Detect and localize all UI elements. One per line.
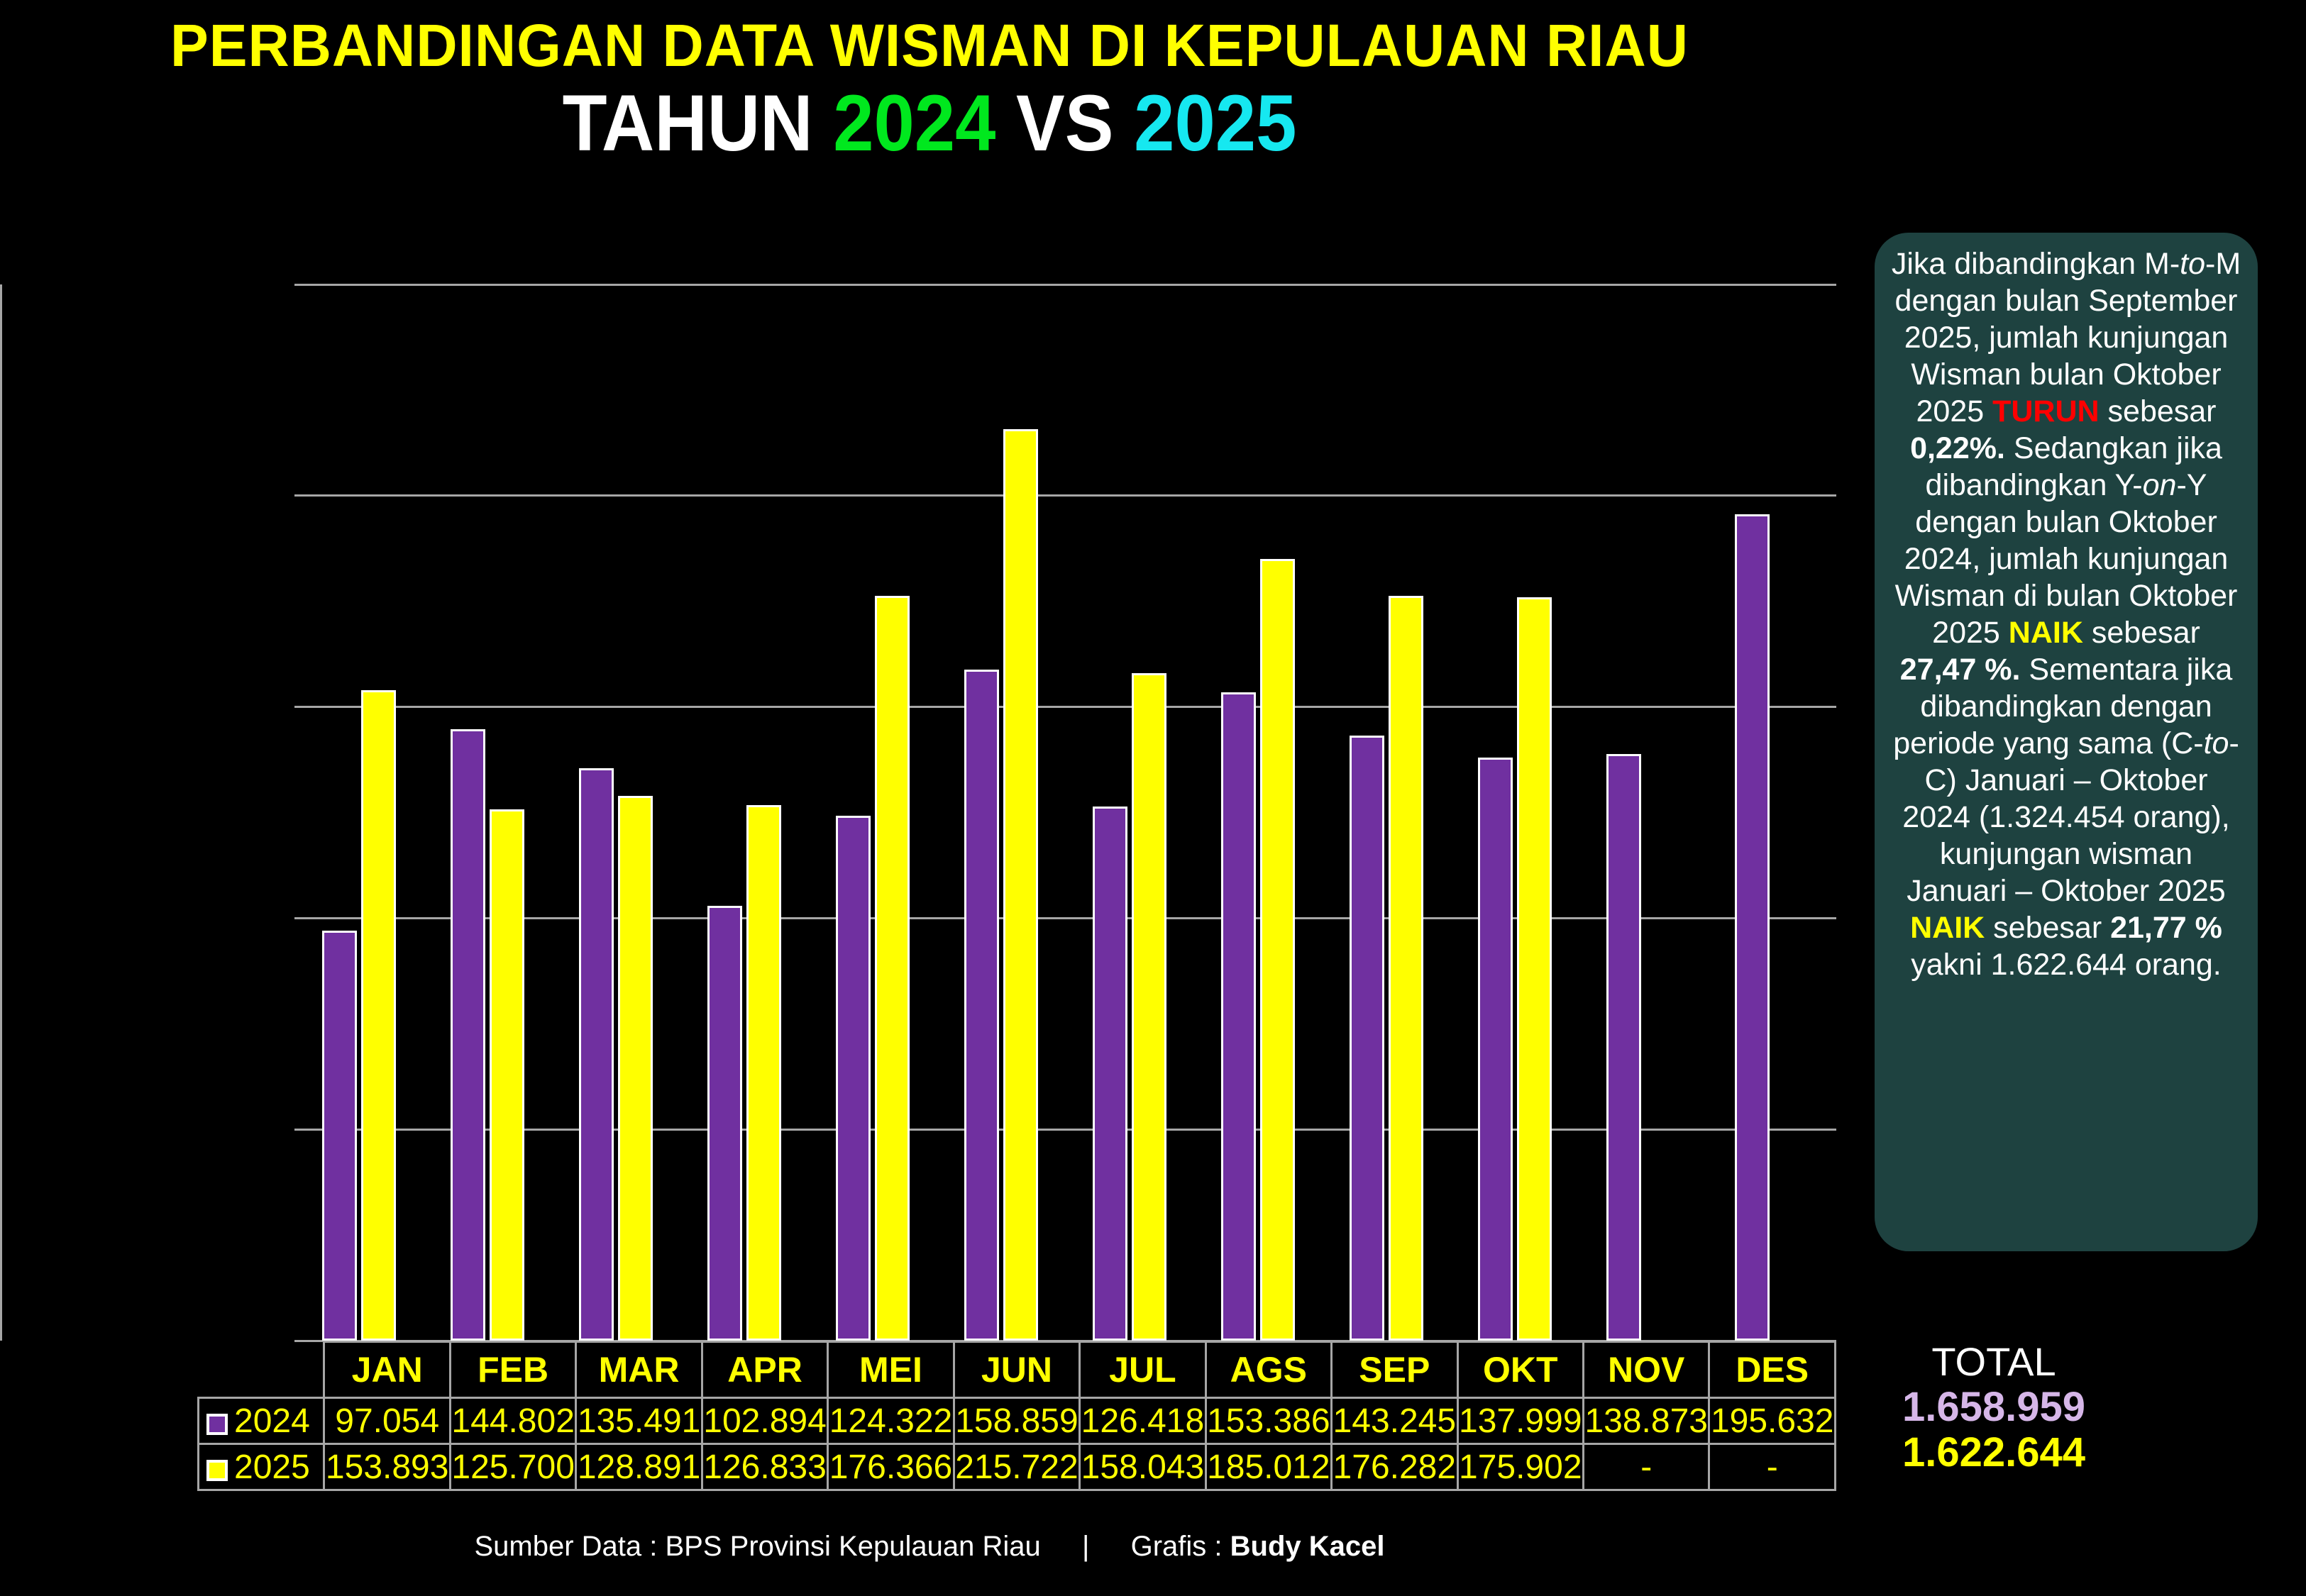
bar-group xyxy=(1066,284,1194,1341)
table-cell-2025-SEP: 176.282 xyxy=(1332,1444,1457,1490)
legend-label-2024: 2024 xyxy=(234,1402,310,1440)
legend-swatch-2024 xyxy=(206,1414,228,1435)
bar-group xyxy=(1708,284,1836,1341)
table-col-header-FEB: FEB xyxy=(450,1342,575,1398)
table-col-header-MEI: MEI xyxy=(828,1342,954,1398)
table-cell-2024-JUL: 126.418 xyxy=(1080,1398,1206,1444)
table-cell-2025-JUN: 215.722 xyxy=(954,1444,1079,1490)
bar-group xyxy=(551,284,680,1341)
bar-2024-JUN xyxy=(964,670,999,1341)
bar-2024-AGS xyxy=(1221,692,1256,1341)
table-cell-2025-NOV: - xyxy=(1583,1444,1709,1490)
table-col-header-SEP: SEP xyxy=(1332,1342,1457,1398)
table-cell-2025-APR: 126.833 xyxy=(702,1444,827,1490)
bar-group xyxy=(1194,284,1323,1341)
table-cell-2024-MEI: 124.322 xyxy=(828,1398,954,1444)
table-cell-2024-JUN: 158.859 xyxy=(954,1398,1079,1444)
table-cell-2024-OKT: 137.999 xyxy=(1457,1398,1583,1444)
bar-2025-MAR xyxy=(618,796,653,1341)
bar-2024-SEP xyxy=(1350,736,1384,1341)
table-col-header-AGS: AGS xyxy=(1206,1342,1331,1398)
data-table: JANFEBMARAPRMEIJUNJULAGSSEPOKTNOVDES 202… xyxy=(197,1341,1836,1491)
note-text-4: sebesar xyxy=(2083,616,2200,650)
note-badge-turun: TURUN xyxy=(1992,394,2099,428)
table-cell-2024-DES: 195.632 xyxy=(1709,1398,1836,1444)
table-col-header-OKT: OKT xyxy=(1457,1342,1583,1398)
note-text-6: sebesar xyxy=(1985,911,2110,945)
note-pct-yoy: 27,47 %. xyxy=(1900,653,2021,687)
table-col-header-MAR: MAR xyxy=(576,1342,702,1398)
bar-2024-APR xyxy=(707,906,742,1341)
bar-2024-FEB xyxy=(451,729,485,1341)
table-row-header-2025: 2025 xyxy=(199,1444,324,1490)
bar-2024-MAR xyxy=(579,768,614,1341)
table-col-header-JUN: JUN xyxy=(954,1342,1079,1398)
bar-2024-JUL xyxy=(1093,807,1127,1341)
bar-2024-NOV xyxy=(1606,754,1641,1341)
bar-2025-JUL xyxy=(1132,673,1166,1341)
table-cell-2025-MAR: 128.891 xyxy=(576,1444,702,1490)
bar-2024-JAN xyxy=(322,931,357,1341)
note-em-on: on xyxy=(2143,468,2177,502)
bar-2025-JAN xyxy=(361,690,396,1341)
table-row: 202497.054144.802135.491102.894124.32215… xyxy=(199,1398,1836,1444)
bar-group xyxy=(1451,284,1579,1341)
table-cell-2025-MEI: 176.366 xyxy=(828,1444,954,1490)
note-em-to-2: to xyxy=(2204,726,2229,760)
table-cell-2024-NOV: 138.873 xyxy=(1583,1398,1709,1444)
y-axis-line xyxy=(0,284,2,1341)
bar-2025-SEP xyxy=(1389,596,1423,1341)
note-badge-naik-2: NAIK xyxy=(1910,911,1985,945)
bar-2024-MEI xyxy=(836,816,871,1341)
bar-group xyxy=(1323,284,1451,1341)
table-header-row: JANFEBMARAPRMEIJUNJULAGSSEPOKTNOVDES xyxy=(199,1342,1836,1398)
table-cell-2025-OKT: 175.902 xyxy=(1457,1444,1583,1490)
table-col-header-NOV: NOV xyxy=(1583,1342,1709,1398)
table-row-header-2024: 2024 xyxy=(199,1398,324,1444)
bar-2025-JUN xyxy=(1003,429,1038,1341)
totals-block: TOTAL 1.658.959 1.622.644 xyxy=(1845,1339,2143,1475)
note-pct-mtm: 0,22%. xyxy=(1910,431,2005,465)
bar-2025-APR xyxy=(746,805,781,1341)
table-cell-2025-JUL: 158.043 xyxy=(1080,1444,1206,1490)
bar-2024-DES xyxy=(1735,514,1770,1341)
bar-group xyxy=(808,284,937,1341)
bar-2024-OKT xyxy=(1478,758,1513,1341)
table-cell-2024-FEB: 144.802 xyxy=(450,1398,575,1444)
bar-2025-AGS xyxy=(1260,559,1295,1341)
table-cell-2024-AGS: 153.386 xyxy=(1206,1398,1331,1444)
plot-region xyxy=(294,284,1836,1341)
note-em-to-1: to xyxy=(2180,247,2205,281)
footer-credit-label: Grafis : xyxy=(1131,1531,1223,1562)
footer: Sumber Data : BPS Provinsi Kepulauan Ria… xyxy=(0,1531,1859,1563)
table-cell-2025-JAN: 153.893 xyxy=(324,1444,450,1490)
table-col-header-JUL: JUL xyxy=(1080,1342,1206,1398)
table-body: 202497.054144.802135.491102.894124.32215… xyxy=(199,1398,1836,1490)
note-text-1: Jika dibandingkan M- xyxy=(1892,247,2180,281)
bar-group xyxy=(294,284,423,1341)
total-2024: 1.658.959 xyxy=(1845,1385,2143,1430)
table-col-header-DES: DES xyxy=(1709,1342,1836,1398)
note-badge-naik-1: NAIK xyxy=(2009,616,2083,650)
table-cell-2024-MAR: 135.491 xyxy=(576,1398,702,1444)
table-row: 2025153.893125.700128.891126.833176.3662… xyxy=(199,1444,1836,1490)
bar-2025-MEI xyxy=(875,596,910,1341)
bar-2025-FEB xyxy=(490,809,524,1341)
bar-group xyxy=(680,284,808,1341)
table-cell-2024-APR: 102.894 xyxy=(702,1398,827,1444)
bar-group xyxy=(423,284,551,1341)
footer-credit-name: Budy Kacel xyxy=(1230,1531,1385,1562)
bar-group xyxy=(1579,284,1708,1341)
table-cell-2024-SEP: 143.245 xyxy=(1332,1398,1457,1444)
table-cell-2025-DES: - xyxy=(1709,1444,1836,1490)
table-cell-2025-FEB: 125.700 xyxy=(450,1444,575,1490)
analysis-note-box: Jika dibandingkan M-to-M dengan bulan Se… xyxy=(1875,233,2258,1251)
table-corner-cell xyxy=(199,1342,324,1398)
legend-label-2025: 2025 xyxy=(234,1448,310,1486)
total-2025: 1.622.644 xyxy=(1845,1430,2143,1475)
table-col-header-APR: APR xyxy=(702,1342,827,1398)
bar-group xyxy=(937,284,1065,1341)
table-cell-2025-AGS: 185.012 xyxy=(1206,1444,1331,1490)
note-text-2: sebesar xyxy=(2100,394,2217,428)
legend-swatch-2025 xyxy=(206,1460,228,1481)
footer-source: Sumber Data : BPS Provinsi Kepulauan Ria… xyxy=(475,1531,1041,1562)
note-text-7: yakni 1.622.644 orang. xyxy=(1911,948,2222,982)
table-col-header-JAN: JAN xyxy=(324,1342,450,1398)
note-pct-ctc: 21,77 % xyxy=(2110,911,2222,945)
bar-2025-OKT xyxy=(1517,597,1552,1341)
total-label: TOTAL xyxy=(1845,1339,2143,1385)
table-cell-2024-JAN: 97.054 xyxy=(324,1398,450,1444)
footer-separator: | xyxy=(1082,1531,1089,1562)
